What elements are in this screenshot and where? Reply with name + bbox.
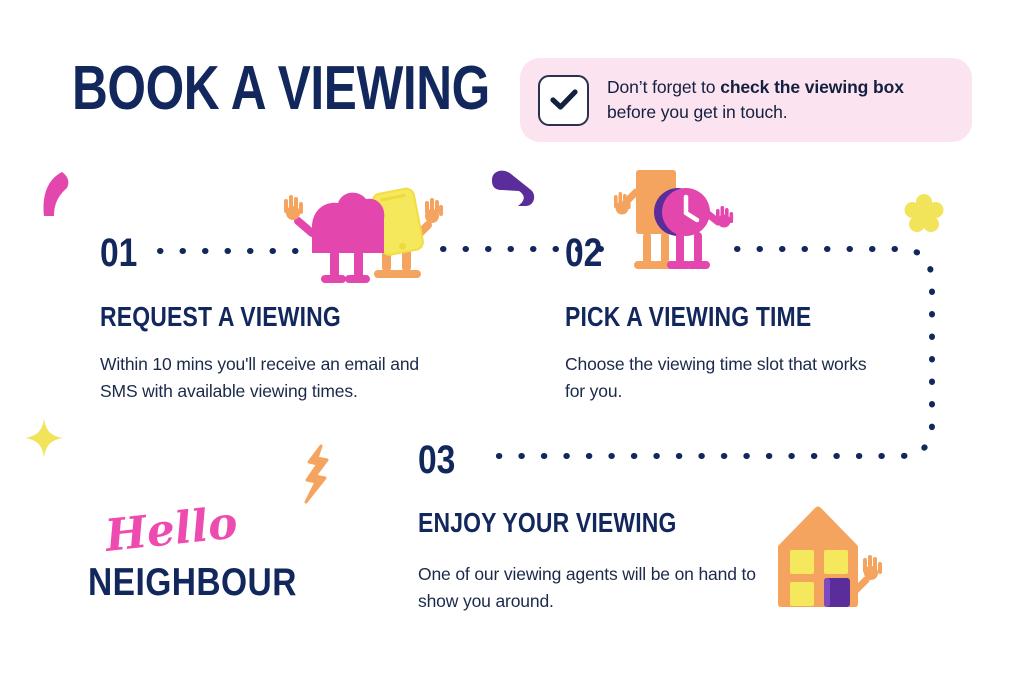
door-clock-character-icon [612, 162, 742, 282]
phone-character-icon [278, 183, 446, 283]
step-number-03: 03 [418, 440, 455, 480]
step-body-01: Within 10 mins you'll receive an email a… [100, 351, 420, 405]
step-number-01: 01 [100, 233, 137, 273]
infographic-canvas: BOOK A VIEWING Don’t forget to check the… [0, 0, 1024, 683]
step-body-02: Choose the viewing time slot that works … [565, 351, 875, 405]
step-number-02: 02 [565, 233, 602, 273]
step-body-03: One of our viewing agents will be on han… [418, 561, 758, 615]
logo-block-word: NEIGHBOUR [88, 562, 297, 603]
house-waving-icon [770, 500, 890, 612]
step-heading-01: REQUEST A VIEWING [100, 302, 341, 332]
step-heading-03: ENJOY YOUR VIEWING [418, 508, 677, 538]
step-heading-02: PICK A VIEWING TIME [565, 302, 811, 332]
